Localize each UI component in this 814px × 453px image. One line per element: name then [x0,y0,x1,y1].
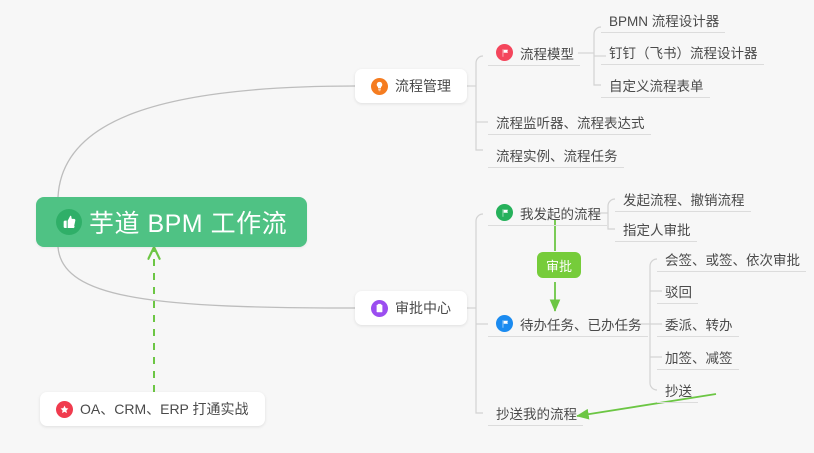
node-label: 会签、或签、依次审批 [665,249,800,269]
flag-green-icon [496,204,513,221]
link-todo-bracket [650,259,657,390]
node-label: 指定人审批 [623,219,691,239]
link-model-bracket [594,27,601,85]
node-custom-process-form[interactable]: 自定义流程表单 [601,72,710,98]
branch-approval-center[interactable]: 审批中心 [355,291,467,325]
approval-badge-label: 审批 [546,256,572,275]
node-counter-or-sequential-sign[interactable]: 会签、或签、依次审批 [657,246,806,272]
node-dingtalk-feishu-designer[interactable]: 钉钉（飞书）流程设计器 [601,39,764,65]
node-cc-to-me-process[interactable]: 抄送我的流程 [488,400,583,426]
approval-badge[interactable]: 审批 [537,252,581,278]
node-label: 抄送 [665,380,692,400]
node-carbon-copy[interactable]: 抄送 [657,377,698,403]
integration-note-node[interactable]: OA、CRM、ERP 打通实战 [40,392,265,426]
node-reject[interactable]: 驳回 [657,278,698,304]
node-process-listener-expression[interactable]: 流程监听器、流程表达式 [488,109,651,135]
flag-blue-icon [496,315,513,332]
link-ac-bracket [476,214,483,413]
link-mine-bracket [608,199,615,229]
document-icon [371,300,388,317]
node-label: 自定义流程表单 [609,75,704,95]
star-icon [56,401,73,418]
node-todo-done-tasks[interactable]: 待办任务、已办任务 [488,311,648,337]
node-label: 流程模型 [520,43,574,63]
node-label: 流程实例、流程任务 [496,145,618,165]
node-label: 待办任务、已办任务 [520,314,642,334]
root-node[interactable]: 芋道 BPM 工作流 [36,197,307,247]
node-bpmn-designer[interactable]: BPMN 流程设计器 [601,7,725,33]
lightbulb-icon [371,78,388,95]
node-label: 发起流程、撤销流程 [623,189,745,209]
node-process-model[interactable]: 流程模型 [488,40,580,66]
branch-process-management[interactable]: 流程管理 [355,69,467,103]
node-label: 加签、减签 [665,347,733,367]
node-label: 抄送我的流程 [496,403,577,423]
node-add-remove-sign[interactable]: 加签、减签 [657,344,739,370]
node-label: 流程监听器、流程表达式 [496,112,645,132]
node-assignee-approval[interactable]: 指定人审批 [615,216,697,242]
node-process-instance-task[interactable]: 流程实例、流程任务 [488,142,624,168]
link-root-process-management [58,86,355,197]
mindmap-canvas: 芋道 BPM 工作流 流程管理 流程模型 流程监听器、流程表达式 流程实例、流程… [0,0,814,453]
node-label: 驳回 [665,281,692,301]
integration-note-label: OA、CRM、ERP 打通实战 [80,399,249,419]
root-label: 芋道 BPM 工作流 [89,204,287,240]
node-label: 我发起的流程 [520,203,601,223]
node-start-cancel-process[interactable]: 发起流程、撤销流程 [615,186,751,212]
node-label: BPMN 流程设计器 [609,10,719,30]
node-my-initiated-process[interactable]: 我发起的流程 [488,200,607,226]
flag-red-icon [496,44,513,61]
node-delegate-transfer[interactable]: 委派、转办 [657,311,739,337]
node-label: 钉钉（飞书）流程设计器 [609,42,758,62]
link-root-approval-center [58,247,355,308]
node-label: 委派、转办 [665,314,733,334]
thumbs-up-icon [56,209,82,235]
branch-label: 流程管理 [395,76,451,96]
branch-label: 审批中心 [395,298,451,318]
link-pm-bracket [476,56,483,150]
